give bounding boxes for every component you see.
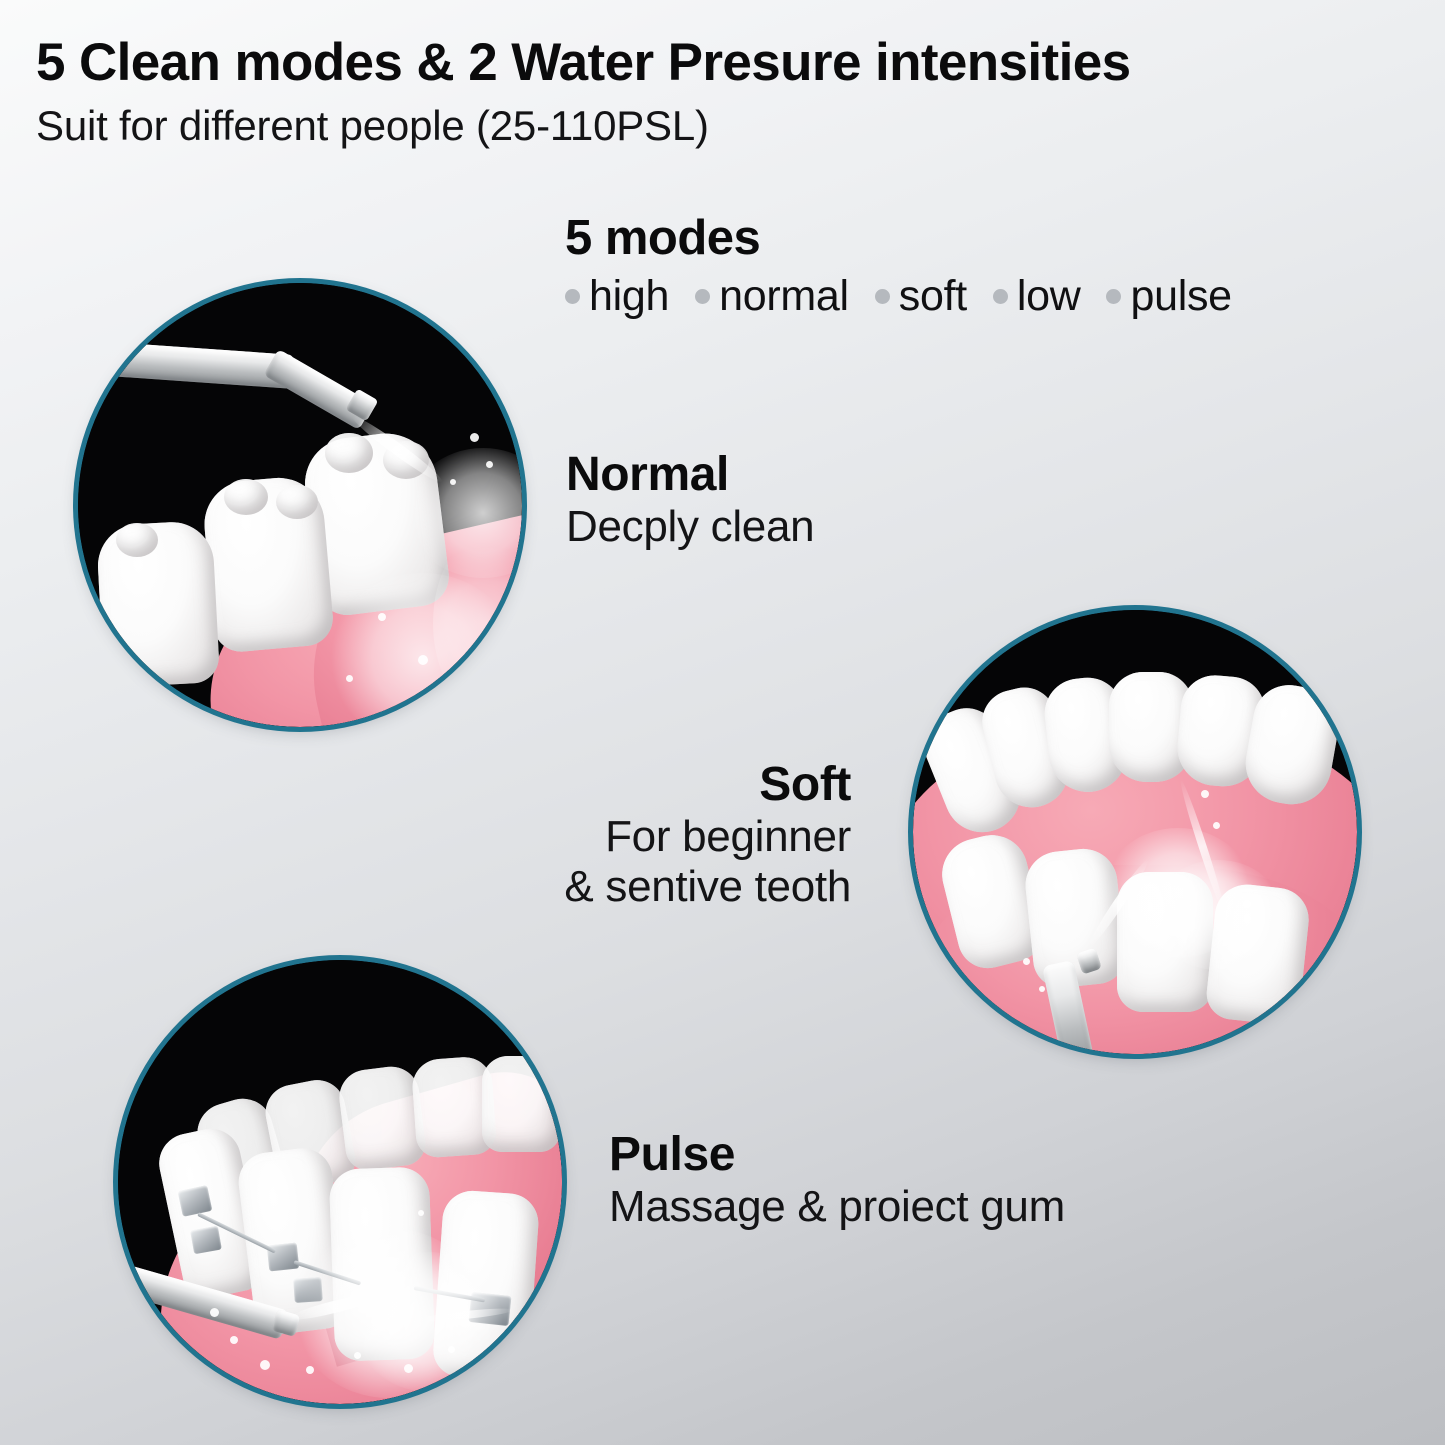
mode-description-line-2: & sentive teoth (436, 862, 851, 912)
water-splash (1153, 860, 1283, 970)
mode-description: Massage & proiect gum (609, 1182, 1065, 1232)
mode-text-soft: Soft For beginner & sentive teoth (436, 758, 851, 912)
mode-text-normal: Normal Decply clean (566, 448, 814, 552)
modes-heading: 5 modes (565, 214, 1232, 263)
mode-list-item-high: high (565, 275, 669, 318)
header-block: 5 Clean modes & 2 Water Presure intensit… (36, 34, 1416, 149)
water-droplet (418, 655, 428, 665)
tooth (482, 1056, 560, 1152)
water-droplet (210, 1308, 219, 1317)
mode-image-pulse-content (118, 960, 562, 1404)
mode-label: normal (719, 275, 849, 318)
mode-title: Soft (436, 758, 851, 812)
water-droplet (306, 1366, 314, 1374)
tooth (96, 520, 220, 688)
water-droplet (450, 479, 456, 485)
water-droplet (1213, 822, 1220, 829)
water-droplet (1243, 900, 1251, 908)
water-droplet (354, 1352, 361, 1359)
mode-title: Pulse (609, 1128, 1065, 1182)
infographic-canvas: 5 Clean modes & 2 Water Presure intensit… (0, 0, 1445, 1445)
water-droplet (260, 1360, 270, 1370)
tooth-cusp (276, 485, 318, 519)
page-title: 5 Clean modes & 2 Water Presure intensit… (36, 34, 1416, 91)
mode-image-soft-content (913, 610, 1357, 1054)
mode-text-pulse: Pulse Massage & proiect gum (609, 1128, 1065, 1232)
page-subtitle: Suit for different people (25-110PSL) (36, 103, 1416, 149)
mode-list-item-pulse: pulse (1106, 275, 1231, 318)
tooth-cusp (325, 433, 373, 473)
mode-list-item-low: low (993, 275, 1081, 318)
water-droplet (346, 675, 353, 682)
mode-label: high (589, 275, 669, 318)
water-droplet (404, 1364, 413, 1373)
mode-image-soft (913, 610, 1357, 1054)
mode-title: Normal (566, 448, 814, 502)
tooth-cusp (116, 523, 158, 557)
modes-list: high normal soft low pulse (565, 275, 1232, 318)
water-droplet (418, 1210, 424, 1216)
water-droplet (470, 433, 479, 442)
water-droplet (448, 1346, 455, 1353)
mode-list-item-soft: soft (875, 275, 967, 318)
mode-description: Decply clean (566, 502, 814, 552)
water-droplet (270, 1192, 276, 1198)
mode-list-item-normal: normal (695, 275, 849, 318)
bullet-dot-icon (875, 289, 890, 304)
tooth-cusp (224, 479, 268, 515)
water-droplet (1039, 986, 1045, 992)
modes-summary-block: 5 modes high normal soft low pulse (565, 214, 1232, 318)
water-droplet (230, 1336, 238, 1344)
flosser-nozzle-shaft (78, 339, 294, 389)
mode-label: pulse (1130, 275, 1231, 318)
mode-label: soft (899, 275, 967, 318)
mode-image-pulse (118, 960, 562, 1404)
water-spray-burst (354, 1252, 504, 1392)
mode-image-normal (78, 283, 522, 727)
mode-image-normal-content (78, 283, 522, 727)
bullet-dot-icon (1106, 289, 1121, 304)
water-droplet (486, 461, 493, 468)
water-droplet (1201, 790, 1209, 798)
bullet-dot-icon (565, 289, 580, 304)
mode-description-line-1: For beginner (436, 812, 851, 862)
water-droplet (378, 613, 386, 621)
bullet-dot-icon (993, 289, 1008, 304)
bullet-dot-icon (695, 289, 710, 304)
water-droplet (1023, 958, 1030, 965)
mode-label: low (1017, 275, 1081, 318)
braces-bracket (190, 1226, 222, 1254)
